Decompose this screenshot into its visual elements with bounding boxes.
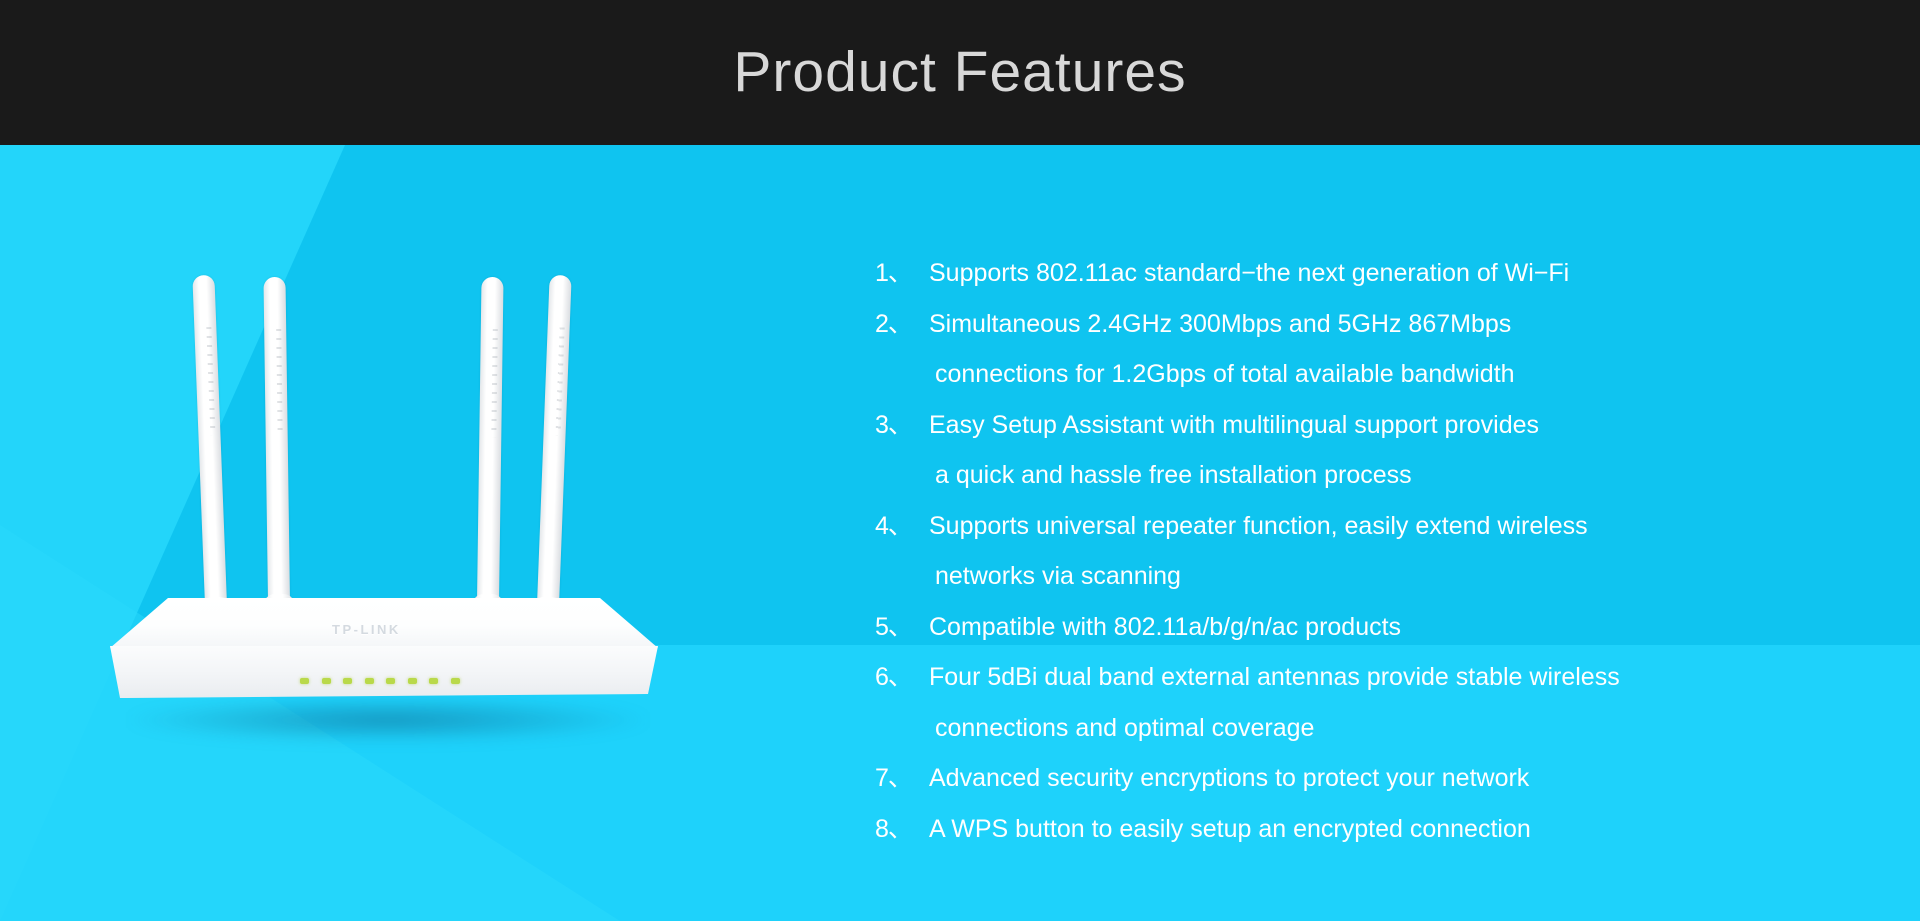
feature-text: Easy Setup Assistant with multilingual s… (929, 400, 1855, 451)
feature-item: 2、Simultaneous 2.4GHz 300Mbps and 5GHz 8… (875, 299, 1855, 350)
antenna-texture (491, 329, 498, 437)
page-title: Product Features (733, 44, 1186, 101)
feature-text: Compatible with 802.11a/b/g/n/ac product… (929, 602, 1855, 653)
feature-text: A WPS button to easily setup an encrypte… (929, 804, 1855, 855)
feature-item: 7、Advanced security encryptions to prote… (875, 753, 1855, 804)
feature-item: 2、connections for 1.2Gbps of total avail… (875, 349, 1855, 400)
feature-text: connections and optimal coverage (929, 703, 1855, 754)
router-drop-shadow (128, 698, 648, 742)
antenna-texture (206, 327, 215, 435)
feature-item: 6、Four 5dBi dual band external antennas … (875, 652, 1855, 703)
feature-text: Supports 802.11ac standard−the next gene… (929, 248, 1855, 299)
antenna-texture (556, 327, 565, 435)
product-features-page: Product Features (0, 0, 1920, 921)
led-indicator (300, 678, 309, 684)
feature-text: Advanced security encryptions to protect… (929, 753, 1855, 804)
feature-number: 4、 (875, 501, 929, 552)
led-indicator (322, 678, 331, 684)
feature-number: 5、 (875, 602, 929, 653)
led-indicator (408, 678, 417, 684)
feature-item: 1、Supports 802.11ac standard−the next ge… (875, 248, 1855, 299)
feature-number: 7、 (875, 753, 929, 804)
led-indicator (343, 678, 352, 684)
feature-list: 1、Supports 802.11ac standard−the next ge… (875, 248, 1855, 854)
antenna-texture (276, 329, 283, 437)
feature-number: 3、 (875, 400, 929, 451)
router-antenna-2 (263, 277, 290, 602)
router-antenna-4 (537, 275, 572, 606)
router-led-strip (300, 676, 460, 686)
led-indicator (386, 678, 395, 684)
feature-item: 4、networks via scanning (875, 551, 1855, 602)
router-antenna-1 (192, 275, 227, 606)
feature-item: 6、connections and optimal coverage (875, 703, 1855, 754)
feature-item: 8、A WPS button to easily setup an encryp… (875, 804, 1855, 855)
led-indicator (451, 678, 460, 684)
router-brand-logo: TP-LINK (332, 622, 401, 637)
feature-number: 8、 (875, 804, 929, 855)
led-indicator (429, 678, 438, 684)
feature-number: 6、 (875, 652, 929, 703)
feature-text: Simultaneous 2.4GHz 300Mbps and 5GHz 867… (929, 299, 1855, 350)
router-product-image: TP-LINK (110, 230, 690, 770)
feature-item: 3、Easy Setup Assistant with multilingual… (875, 400, 1855, 451)
feature-text: Four 5dBi dual band external antennas pr… (929, 652, 1855, 703)
feature-item: 5、Compatible with 802.11a/b/g/n/ac produ… (875, 602, 1855, 653)
feature-number: 2、 (875, 299, 929, 350)
feature-item: 4、Supports universal repeater function, … (875, 501, 1855, 552)
page-header: Product Features (0, 0, 1920, 145)
feature-text: networks via scanning (929, 551, 1855, 602)
feature-text: a quick and hassle free installation pro… (929, 450, 1855, 501)
led-indicator (365, 678, 374, 684)
feature-number: 1、 (875, 248, 929, 299)
feature-text: Supports universal repeater function, ea… (929, 501, 1855, 552)
hero-section: TP-LINK 1、Supports 802.11ac standard−the… (0, 145, 1920, 921)
feature-text: connections for 1.2Gbps of total availab… (929, 349, 1855, 400)
router-body-front (110, 646, 658, 704)
feature-item: 3、a quick and hassle free installation p… (875, 450, 1855, 501)
router-antenna-3 (477, 277, 504, 602)
